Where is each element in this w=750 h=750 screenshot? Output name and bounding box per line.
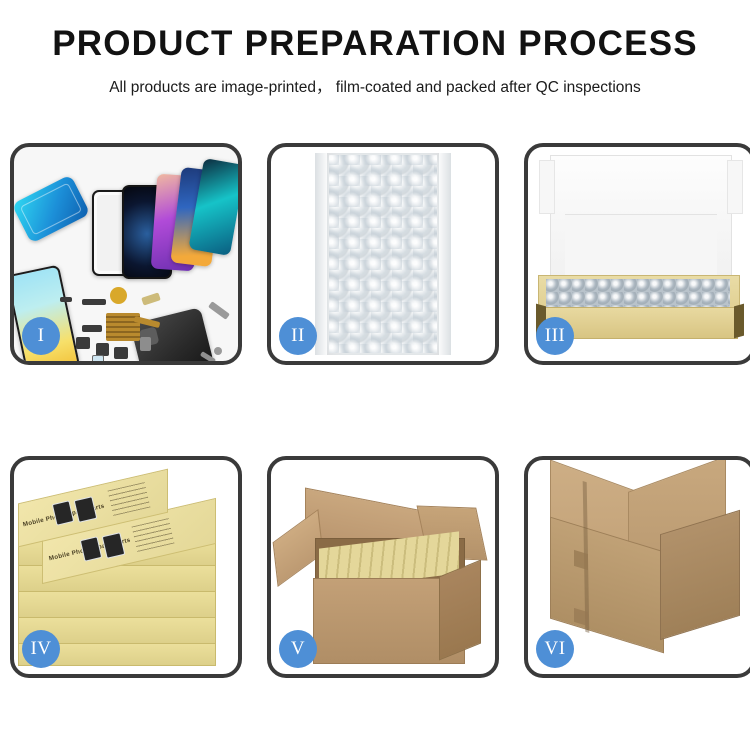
bubble-pattern-secondary	[329, 155, 437, 353]
step-badge-1: I	[22, 317, 60, 355]
step-badge-5: V	[279, 630, 317, 668]
page-subtitle: All products are image-printed， film-coa…	[0, 75, 750, 97]
process-step-6: VI	[524, 456, 750, 678]
ic-chip-part	[114, 347, 128, 359]
connector-part	[141, 292, 161, 305]
process-step-1: I	[10, 143, 242, 365]
tweezers-tool	[208, 301, 230, 320]
ribbon-cable-part	[82, 325, 102, 332]
flex-cable-part	[82, 299, 106, 305]
step-badge-2: II	[279, 317, 317, 355]
step-badge-3: III	[536, 317, 574, 355]
process-step-4: Mobile Phone Spare Parts Mobile Phone Sp…	[10, 456, 242, 678]
process-step-3: III	[524, 143, 750, 365]
phone-blue-angled	[14, 174, 90, 243]
bracket-part	[140, 337, 151, 351]
screw-part	[214, 347, 222, 355]
wrap-edge-right	[437, 153, 451, 355]
sim-tray-part	[92, 355, 104, 361]
step-badge-4: IV	[22, 630, 60, 668]
process-step-5: V	[267, 456, 499, 678]
bubble-wrap-sleeve	[327, 153, 439, 355]
wrap-edge-left	[315, 153, 329, 355]
camera-module-part	[76, 337, 90, 349]
sealed-carton-side	[660, 510, 740, 640]
box-tray-tab-right	[734, 304, 744, 339]
step-badge-6: VI	[536, 630, 574, 668]
box-lid-white	[550, 155, 732, 287]
yellow-box-layer-3	[18, 590, 216, 618]
process-step-2: II	[267, 143, 499, 365]
process-step-grid: I II III	[10, 143, 740, 678]
page-header: PRODUCT PREPARATION PROCESS All products…	[0, 0, 750, 97]
page-title: PRODUCT PREPARATION PROCESS	[0, 26, 750, 63]
speaker-coil-part	[110, 287, 127, 304]
battery-connector-part	[60, 297, 72, 302]
carton-side-panel	[439, 560, 481, 661]
